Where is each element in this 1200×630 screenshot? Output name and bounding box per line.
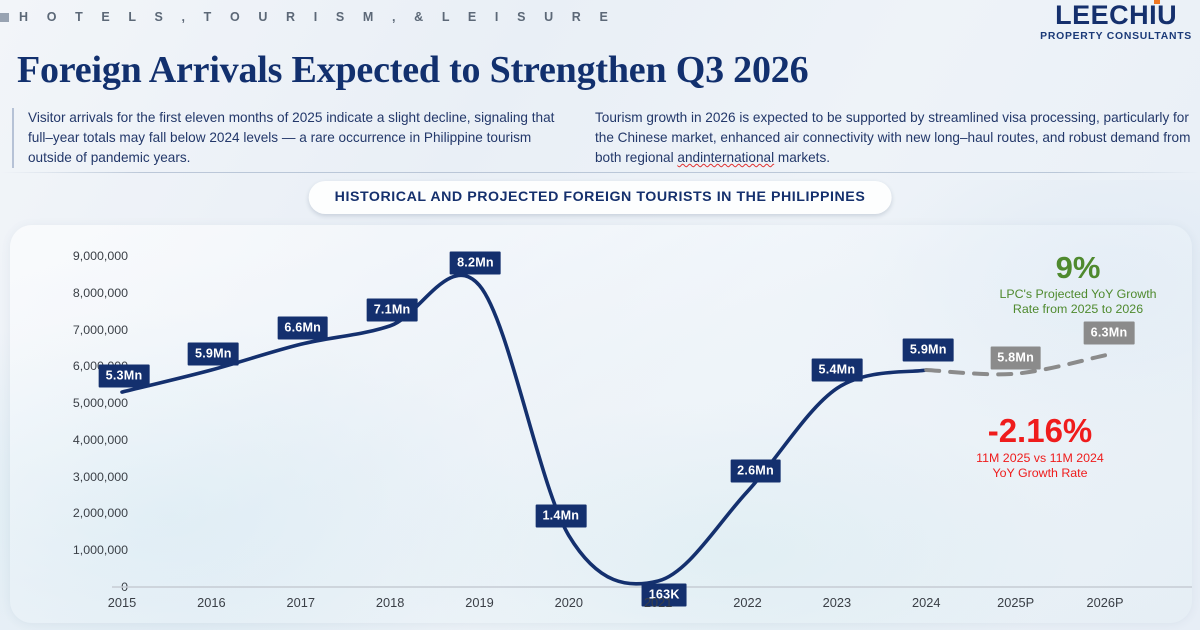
kicker-row: H O T E L S , T O U R I S M , & L E I S …: [0, 10, 615, 24]
decline-annotation-value: -2.16%: [930, 414, 1150, 449]
data-label-2019: 8.2Mn: [450, 252, 501, 275]
logo-tagline: PROPERTY CONSULTANTS: [1040, 32, 1192, 42]
data-label-2023: 5.4Mn: [812, 359, 863, 382]
x-axis-tick-labels: 2015201620172018201920202021202220232024…: [0, 595, 1200, 625]
data-label-2020: 1.4Mn: [535, 504, 586, 527]
intro-right-misspelled-word: andinternational: [677, 150, 774, 165]
page-title: Foreign Arrivals Expected to Strengthen …: [17, 48, 808, 92]
growth-annotation-line1: LPC's Projected YoY Growth: [968, 287, 1188, 302]
x-axis-tick: 2022: [733, 595, 761, 610]
data-label-2026P: 6.3Mn: [1084, 322, 1135, 345]
data-label-2015: 5.3Mn: [99, 365, 150, 388]
x-axis-tick: 2024: [912, 595, 940, 610]
chart-title-pill: HISTORICAL AND PROJECTED FOREIGN TOURIST…: [309, 181, 892, 214]
growth-annotation-line2: Rate from 2025 to 2026: [968, 302, 1188, 317]
data-label-2022: 2.6Mn: [730, 460, 781, 483]
data-label-2025P: 5.8Mn: [990, 346, 1041, 369]
intro-right-text-b: markets.: [774, 150, 830, 165]
x-axis-tick: 2023: [823, 595, 851, 610]
series-line-actual: [122, 275, 926, 584]
square-bullet-icon: [0, 13, 9, 22]
x-axis-tick: 2021: [644, 595, 672, 610]
x-axis-tick: 2015: [108, 595, 136, 610]
decline-annotation-line2: YoY Growth Rate: [930, 466, 1150, 481]
growth-annotation: 9% LPC's Projected YoY Growth Rate from …: [968, 252, 1188, 317]
x-axis-tick: 2017: [286, 595, 314, 610]
data-label-2016: 5.9Mn: [188, 343, 239, 366]
growth-annotation-value: 9%: [968, 252, 1188, 285]
x-axis-tick: 2019: [465, 595, 493, 610]
logo-wordmark-text: LEECHIU: [1055, 0, 1177, 30]
x-axis-tick: 2020: [555, 595, 583, 610]
data-label-2024: 5.9Mn: [903, 339, 954, 362]
intro-paragraph-right: Tourism growth in 2026 is expected to be…: [595, 108, 1195, 168]
infographic-root: H O T E L S , T O U R I S M , & L E I S …: [0, 0, 1200, 630]
x-axis-tick: 2016: [197, 595, 225, 610]
data-label-2018: 7.1Mn: [367, 298, 418, 321]
decline-annotation-line1: 11M 2025 vs 11M 2024: [930, 451, 1150, 466]
logo-wordmark: LEECHIU: [1055, 2, 1177, 29]
leechiu-logo: LEECHIU PROPERTY CONSULTANTS: [1040, 2, 1192, 42]
x-axis-tick: 2025P: [997, 595, 1034, 610]
header-divider: [0, 172, 1200, 173]
x-axis-tick: 2018: [376, 595, 404, 610]
x-axis-tick: 2026P: [1086, 595, 1123, 610]
decline-annotation: -2.16% 11M 2025 vs 11M 2024 YoY Growth R…: [930, 414, 1150, 481]
logo-dot-icon: [1154, 0, 1160, 4]
chart-title-label: HISTORICAL AND PROJECTED FOREIGN TOURIST…: [335, 189, 866, 205]
intro-paragraph-left: Visitor arrivals for the first eleven mo…: [12, 108, 572, 168]
data-label-2017: 6.6Mn: [277, 317, 328, 340]
kicker-label: H O T E L S , T O U R I S M , & L E I S …: [19, 10, 615, 24]
